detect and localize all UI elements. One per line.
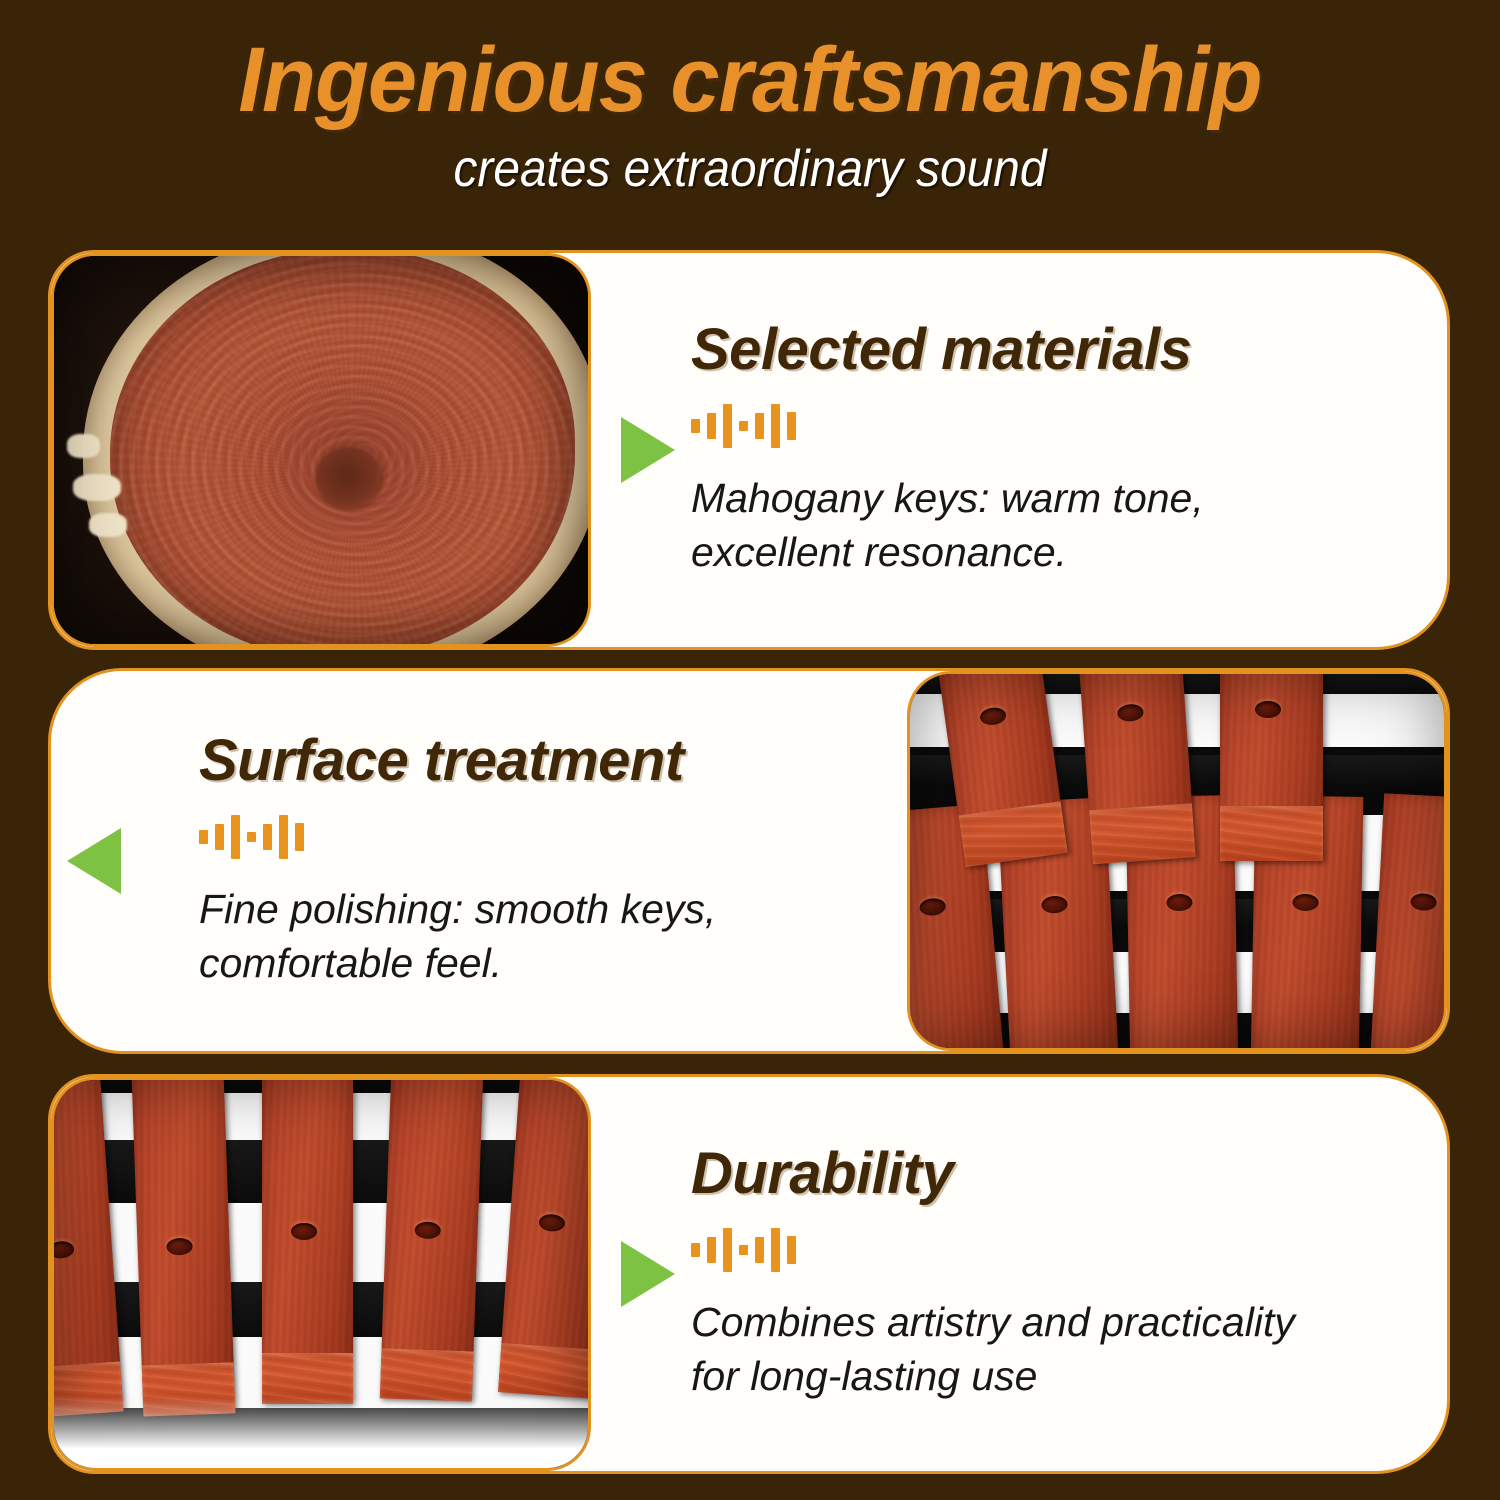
photo-polished-keys bbox=[907, 671, 1447, 1051]
xylophone-key bbox=[1077, 671, 1195, 864]
xylophone-key bbox=[1220, 671, 1323, 861]
feature-card-surface-treatment: Surface treatment Fine polishing: smooth… bbox=[48, 668, 1450, 1054]
page-title: Ingenious craftsmanship bbox=[30, 34, 1470, 126]
card-copy: Selected materials Mahogany keys: warm t… bbox=[691, 320, 1447, 579]
feature-card-durability: Durability Combines artistry and practic… bbox=[48, 1074, 1450, 1474]
card-text-block: Durability Combines artistry and practic… bbox=[591, 1077, 1447, 1471]
audio-waveform-icon bbox=[691, 403, 1397, 449]
keys-photo-scene bbox=[907, 671, 1447, 1051]
card-layout-row: Surface treatment Fine polishing: smooth… bbox=[51, 671, 1447, 1051]
infographic-page: Ingenious craftsmanship creates extraord… bbox=[0, 0, 1500, 1500]
heartwood bbox=[110, 253, 574, 647]
card-description-line: for long-lasting use bbox=[691, 1349, 1351, 1403]
card-layout-row: Durability Combines artistry and practic… bbox=[51, 1077, 1447, 1471]
audio-waveform-icon bbox=[199, 814, 907, 860]
card-layout-row: Selected materials Mahogany keys: warm t… bbox=[51, 253, 1447, 647]
feature-card-selected-materials: Selected materials Mahogany keys: warm t… bbox=[48, 250, 1450, 650]
xylophone-key bbox=[262, 1077, 354, 1404]
card-description: Mahogany keys: warm tone, excellent reso… bbox=[691, 471, 1351, 579]
card-heading: Selected materials bbox=[691, 320, 1397, 381]
card-description-line: excellent resonance. bbox=[691, 525, 1351, 579]
triangle-right-icon bbox=[617, 413, 679, 487]
triangle-right-icon bbox=[617, 1237, 679, 1311]
pith-center bbox=[315, 446, 385, 512]
xylophone-key bbox=[380, 1077, 484, 1402]
log-photo-scene bbox=[51, 253, 591, 647]
xylophone-key bbox=[1370, 794, 1447, 1051]
card-heading: Durability bbox=[691, 1144, 1397, 1205]
photo-log-cross-section bbox=[51, 253, 591, 647]
card-description: Fine polishing: smooth keys, comfortable… bbox=[199, 882, 859, 990]
audio-waveform-icon bbox=[691, 1227, 1397, 1273]
page-subtitle: creates extraordinary sound bbox=[60, 143, 1440, 195]
card-description-line: Fine polishing: smooth keys, bbox=[199, 882, 859, 936]
card-copy: Durability Combines artistry and practic… bbox=[691, 1144, 1447, 1403]
card-text-block: Surface treatment Fine polishing: smooth… bbox=[51, 671, 907, 1051]
card-heading: Surface treatment bbox=[199, 731, 907, 792]
card-description-line: comfortable feel. bbox=[199, 936, 859, 990]
keys-photo-scene bbox=[51, 1077, 591, 1471]
card-copy: Surface treatment Fine polishing: smooth… bbox=[151, 731, 907, 990]
xylophone-key bbox=[131, 1077, 236, 1417]
header: Ingenious craftsmanship creates extraord… bbox=[0, 0, 1500, 232]
card-description: Combines artistry and practicality for l… bbox=[691, 1295, 1351, 1403]
card-description-line: Mahogany keys: warm tone, bbox=[691, 471, 1351, 525]
card-text-block: Selected materials Mahogany keys: warm t… bbox=[591, 253, 1447, 647]
triangle-left-icon bbox=[63, 824, 125, 898]
card-description-line: Combines artistry and practicality bbox=[691, 1295, 1351, 1349]
photo-key-ends bbox=[51, 1077, 591, 1471]
